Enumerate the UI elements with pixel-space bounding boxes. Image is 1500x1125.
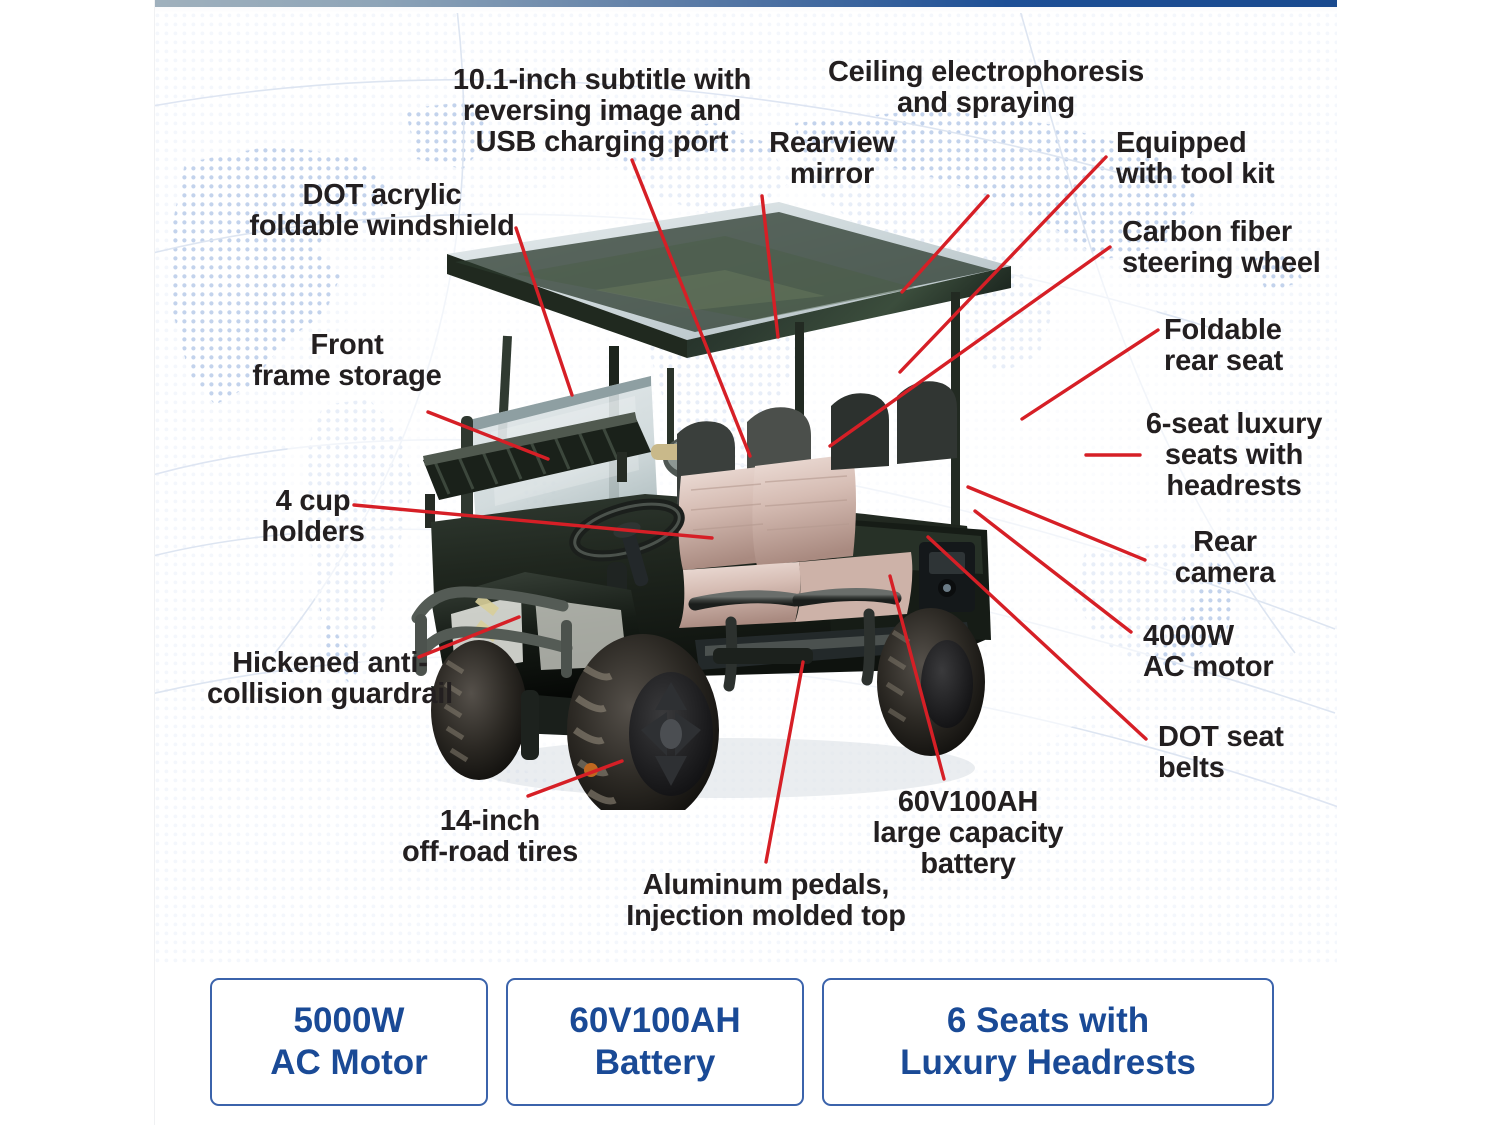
spec-badge-seats[interactable]: 6 Seats with Luxury Headrests [822, 978, 1274, 1106]
page-gutter-left-edge [154, 0, 155, 1125]
callout-rearview-mirror: Rearview mirror [757, 128, 907, 190]
page-gutter-right [1337, 0, 1500, 1125]
spec-badge-seats-label: 6 Seats with Luxury Headrests [900, 1000, 1196, 1084]
callout-subtitle-reversing-usb: 10.1-inch subtitle with reversing image … [452, 65, 752, 158]
top-accent-rule [155, 0, 1337, 7]
callout-front-frame-storage: Front frame storage [232, 330, 462, 392]
callout-motor-4000w-ac: 4000W AC motor [1143, 621, 1333, 683]
spec-badge-row: 5000W AC Motor 60V100AH Battery 6 Seats … [155, 978, 1337, 1118]
callout-dot-acrylic-foldable-windshield: DOT acrylic foldable windshield [237, 180, 527, 242]
spec-badge-motor-label: 5000W AC Motor [270, 1000, 427, 1084]
golf-cart-illustration [395, 170, 1035, 810]
spec-badge-battery-label: 60V100AH Battery [569, 1000, 740, 1084]
callout-equipped-with-tool-kit: Equipped with tool kit [1116, 128, 1336, 190]
callout-battery-60v100ah-large-capacity: 60V100AH large capacity battery [868, 787, 1068, 880]
callout-carbon-fiber-steering-wheel: Carbon fiber steering wheel [1122, 217, 1352, 279]
callout-fourteen-inch-off-road-tires: 14-inch off-road tires [385, 806, 595, 868]
spec-badge-battery[interactable]: 60V100AH Battery [506, 978, 804, 1106]
callout-rear-camera: Rear camera [1150, 527, 1300, 589]
callout-foldable-rear-seat: Foldable rear seat [1164, 315, 1364, 377]
product-photo-golf-cart [395, 170, 1035, 810]
page-gutter-left [0, 0, 155, 1125]
callout-ceiling-electrophoresis-spraying: Ceiling electrophoresis and spraying [826, 57, 1146, 119]
callout-hickened-anti-collision-guardrail: Hickened anti- collision guardrail [200, 648, 460, 710]
infographic-page: DOT acrylic foldable windshield10.1-inch… [0, 0, 1500, 1125]
callout-dot-seat-belts: DOT seat belts [1158, 722, 1338, 784]
spec-badge-motor[interactable]: 5000W AC Motor [210, 978, 488, 1106]
callout-four-cup-holders: 4 cup holders [238, 486, 388, 548]
callout-six-seat-luxury-seats-headrests: 6-seat luxury seats with headrests [1124, 409, 1344, 502]
